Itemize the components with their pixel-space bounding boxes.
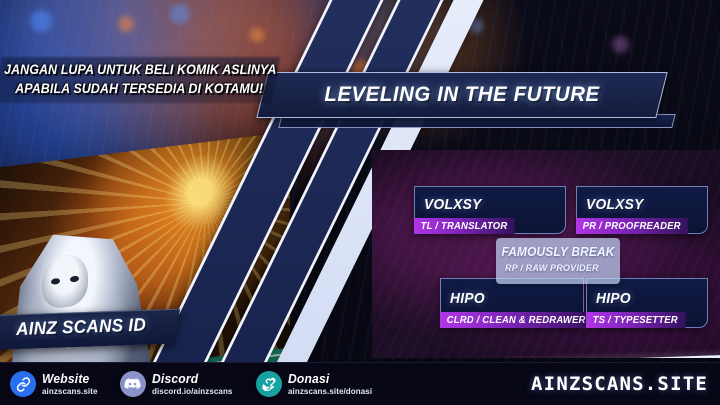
credit-name: VOLXSY	[586, 197, 644, 213]
bokeh-light	[250, 28, 264, 42]
footer-link-title: Discord	[152, 372, 232, 385]
credit-card: HIPO CLRD / CLEAN & REDRAWER	[440, 278, 584, 328]
footer-brand: AINZSCANS.SITE	[531, 363, 708, 405]
bokeh-light	[612, 36, 629, 53]
footer-link-url: discord.io/ainzscans	[152, 387, 232, 396]
link-icon	[10, 371, 36, 397]
credit-role: RP / RAW PROVIDER	[505, 263, 599, 274]
series-title: LEVELING IN THE FUTURE	[268, 72, 656, 118]
credit-role-badge: PR / PROOFREADER	[576, 218, 688, 234]
footer-link-title: Website	[42, 372, 98, 385]
bokeh-light	[118, 16, 134, 32]
skull-eye	[70, 275, 79, 282]
notice-line-1: JANGAN LUPA UNTUK BELI KOMIK ASLINYA	[4, 60, 253, 79]
footer-link-discord[interactable]: Discord discord.io/ainzscans	[120, 371, 239, 397]
bokeh-light	[170, 4, 190, 24]
credit-name: HIPO	[450, 291, 485, 307]
credits-page: JANGAN LUPA UNTUK BELI KOMIK ASLINYA APA…	[0, 0, 720, 405]
credit-card: VOLXSY PR / PROOFREADER	[576, 186, 708, 234]
credit-role-badge: CLRD / CLEAN & REDRAWER	[440, 312, 593, 328]
footer-link-text: Donasi ainzscans.site/donasi	[288, 372, 378, 396]
footer-link-website[interactable]: Website ainzscans.site	[10, 371, 102, 397]
series-title-banner: LEVELING IN THE FUTURE	[262, 72, 662, 118]
purchase-notice: JANGAN LUPA UNTUK BELI KOMIK ASLINYA APA…	[4, 60, 272, 98]
credit-role-badge: TS / TYPESETTER	[586, 312, 685, 328]
credit-name: HIPO	[596, 291, 631, 307]
panel-diagonal-line	[372, 354, 720, 358]
footer-bar: Website ainzscans.site Discord discord.i…	[0, 362, 720, 405]
footer-link-title: Donasi	[288, 372, 372, 385]
credit-name: VOLXSY	[424, 197, 482, 213]
discord-icon	[120, 371, 146, 397]
raw-provider-overlay-card: FAMOUSLY BREAK RP / RAW PROVIDER	[496, 238, 620, 284]
skull-eye	[51, 278, 60, 285]
credit-card: HIPO TS / TYPESETTER	[586, 278, 708, 328]
footer-link-text: Discord discord.io/ainzscans	[152, 372, 239, 396]
footer-link-text: Website ainzscans.site	[42, 372, 102, 396]
notice-line-2: APABILA SUDAH TERSEDIA DI KOTAMU!	[4, 79, 253, 98]
credit-name: FAMOUSLY BREAK	[499, 245, 617, 259]
footer-link-url: ainzscans.site/donasi	[288, 387, 372, 396]
footer-links: Website ainzscans.site Discord discord.i…	[10, 363, 379, 405]
credit-role-badge: TL / TRANSLATOR	[414, 218, 515, 234]
footer-link-url: ainzscans.site	[42, 387, 98, 396]
footer-link-donasi[interactable]: Donasi ainzscans.site/donasi	[256, 371, 378, 397]
credit-card: VOLXSY TL / TRANSLATOR	[414, 186, 566, 234]
donate-heart-hands-icon	[256, 371, 282, 397]
bokeh-light	[30, 10, 52, 32]
